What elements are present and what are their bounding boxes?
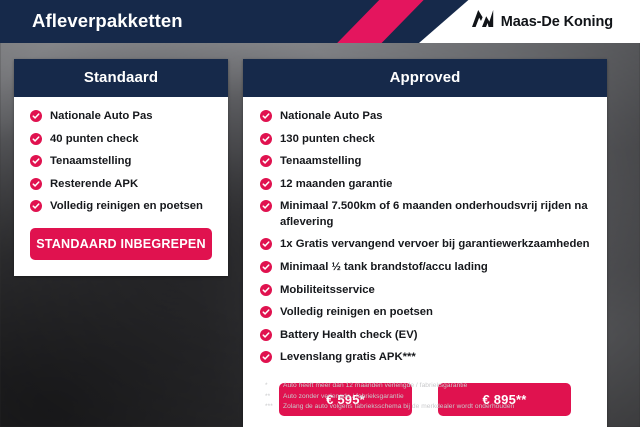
feature-item: 1x Gratis vervangend vervoer bij garanti… (243, 237, 607, 260)
feature-item: 40 punten check (14, 132, 228, 155)
brand-logo: Maas-De Koning (472, 10, 613, 33)
footnote-list: *Auto heeft meer dan 12 maanden verlengd… (265, 381, 605, 413)
card-body-standaard: Nationale Auto Pas40 punten checkTenaams… (14, 97, 228, 276)
screenshot-root: Afleverpakketten Maas-De Koning Standaar… (0, 0, 640, 427)
footnote-text: Auto zonder verlengde / fabrieksgarantie (283, 392, 404, 403)
feature-item: Resterende APK (14, 177, 228, 200)
check-circle-icon (260, 133, 272, 145)
feature-label: Nationale Auto Pas (280, 109, 383, 125)
feature-label: Minimaal ½ tank brandstof/accu lading (280, 260, 488, 276)
check-circle-icon (260, 306, 272, 318)
check-circle-icon (260, 155, 272, 167)
check-circle-icon (260, 261, 272, 273)
feature-item: Tenaamstelling (243, 154, 607, 177)
feature-item: Minimaal 7.500km of 6 maanden onderhouds… (243, 199, 607, 237)
page-header: Afleverpakketten Maas-De Koning (0, 0, 640, 43)
standaard-button-wrap: STANDAARD INBEGREPEN (14, 222, 228, 276)
footnote-row: ***Zolang de auto volgens fabrieksschema… (265, 402, 605, 413)
feature-label: Levenslang gratis APK*** (280, 350, 416, 366)
feature-label: Mobiliteitsservice (280, 283, 375, 299)
card-title-approved: Approved (243, 59, 607, 97)
feature-label: Battery Health check (EV) (280, 328, 418, 344)
card-body-approved: Nationale Auto Pas130 punten checkTenaam… (243, 97, 607, 427)
feature-list-approved: Nationale Auto Pas130 punten checkTenaam… (243, 109, 607, 373)
footnote-marker: ** (265, 392, 277, 403)
footnote-text: Auto heeft meer dan 12 maanden verlengde… (283, 381, 467, 392)
package-card-standaard: Standaard Nationale Auto Pas40 punten ch… (14, 59, 228, 276)
feature-label: Resterende APK (50, 177, 138, 193)
check-circle-icon (260, 329, 272, 341)
feature-item: 130 punten check (243, 132, 607, 155)
feature-item: Nationale Auto Pas (14, 109, 228, 132)
feature-list-standaard: Nationale Auto Pas40 punten checkTenaams… (14, 109, 228, 222)
feature-label: Volledig reinigen en poetsen (280, 305, 433, 321)
feature-item: Nationale Auto Pas (243, 109, 607, 132)
feature-label: Minimaal 7.500km of 6 maanden onderhouds… (280, 199, 597, 230)
feature-item: Levenslang gratis APK*** (243, 350, 607, 373)
package-card-approved: Approved Nationale Auto Pas130 punten ch… (243, 59, 607, 427)
check-circle-icon (30, 133, 42, 145)
feature-label: 12 maanden garantie (280, 177, 392, 193)
feature-item: Tenaamstelling (14, 154, 228, 177)
feature-label: 1x Gratis vervangend vervoer bij garanti… (280, 237, 590, 253)
footnote-marker: * (265, 381, 277, 392)
card-title-standaard: Standaard (14, 59, 228, 97)
check-circle-icon (30, 155, 42, 167)
check-circle-icon (260, 284, 272, 296)
feature-label: Nationale Auto Pas (50, 109, 153, 125)
standaard-inbegrepen-button[interactable]: STANDAARD INBEGREPEN (30, 228, 212, 260)
check-circle-icon (260, 351, 272, 363)
footnote-marker: *** (265, 402, 277, 413)
check-circle-icon (260, 238, 272, 250)
feature-item: Volledig reinigen en poetsen (243, 305, 607, 328)
feature-item: 12 maanden garantie (243, 177, 607, 200)
check-circle-icon (30, 178, 42, 190)
check-circle-icon (30, 200, 42, 212)
feature-label: Volledig reinigen en poetsen (50, 199, 203, 215)
check-circle-icon (260, 178, 272, 190)
feature-label: 130 punten check (280, 132, 375, 148)
brand-name: Maas-De Koning (501, 14, 613, 30)
check-circle-icon (30, 110, 42, 122)
maas-de-koning-m-logo-icon (472, 10, 494, 33)
footnote-row: *Auto heeft meer dan 12 maanden verlengd… (265, 381, 605, 392)
feature-label: 40 punten check (50, 132, 139, 148)
page-title: Afleverpakketten (32, 10, 183, 32)
feature-item: Volledig reinigen en poetsen (14, 199, 228, 222)
footnote-row: **Auto zonder verlengde / fabrieksgarant… (265, 392, 605, 403)
feature-label: Tenaamstelling (50, 154, 131, 170)
check-circle-icon (260, 200, 272, 212)
feature-item: Minimaal ½ tank brandstof/accu lading (243, 260, 607, 283)
feature-item: Mobiliteitsservice (243, 283, 607, 306)
check-circle-icon (260, 110, 272, 122)
feature-label: Tenaamstelling (280, 154, 361, 170)
feature-item: Battery Health check (EV) (243, 328, 607, 351)
footnote-text: Zolang de auto volgens fabrieksschema bi… (283, 402, 514, 413)
